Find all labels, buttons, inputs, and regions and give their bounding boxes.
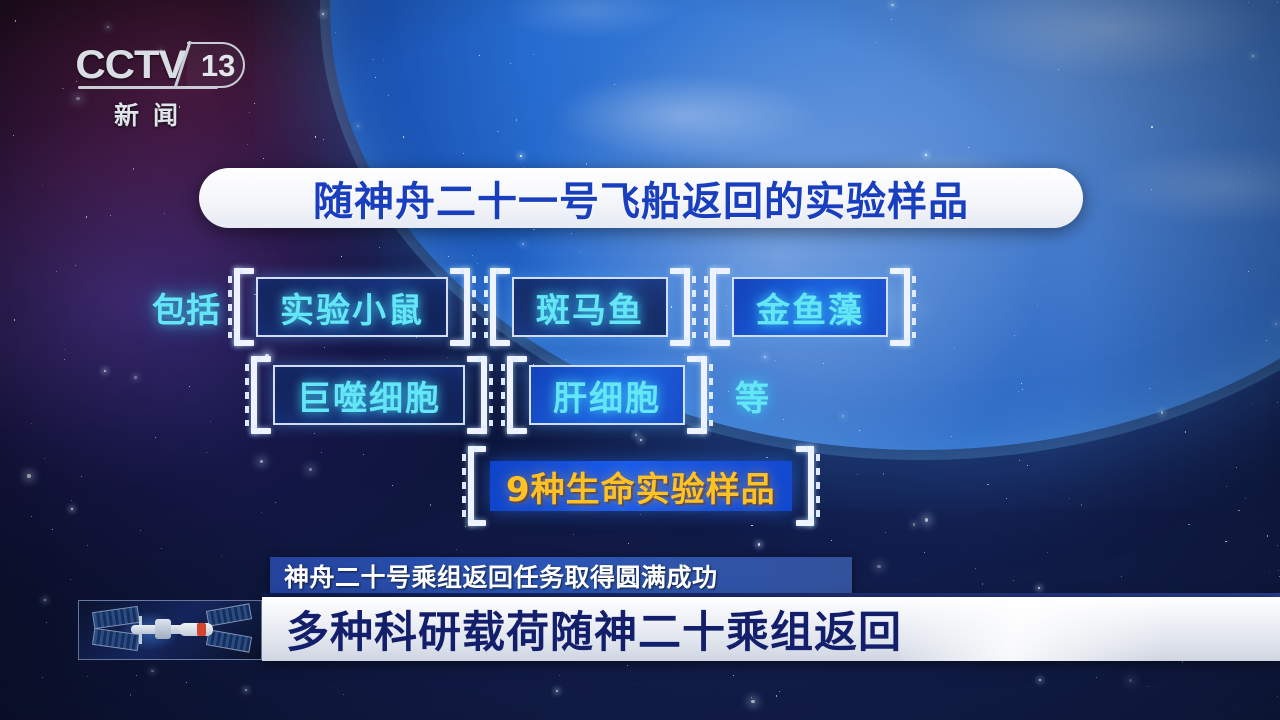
sample-label: 实验小鼠 <box>258 283 446 332</box>
bracket-right-icon <box>467 356 493 434</box>
bracket-right-icon <box>687 356 713 434</box>
sample-chip: 肝细胞 <box>501 356 713 434</box>
sample-box: 斑马鱼 <box>512 277 668 337</box>
bracket-right-icon <box>670 268 696 346</box>
bracket-left-icon <box>462 446 488 526</box>
samples-row-2: 巨噬细胞 肝细胞 等 <box>245 356 769 434</box>
sample-label: 肝细胞 <box>531 371 683 420</box>
summary-highlight: 9种生命实验样品 <box>462 446 820 526</box>
sample-label: 巨噬细胞 <box>275 371 463 420</box>
bracket-right-icon <box>450 268 476 346</box>
sample-box: 实验小鼠 <box>256 277 448 337</box>
lower-third-subtitle-text: 神舟二十号乘组返回任务取得圆满成功 <box>270 558 718 594</box>
channel-number-badge: 13 <box>187 42 245 88</box>
summary-box: 9种生命实验样品 <box>490 461 792 511</box>
lower-third-subtitle: 神舟二十号乘组返回任务取得圆满成功 <box>270 557 852 595</box>
bracket-left-icon <box>501 356 527 434</box>
samples-suffix-label: 等 <box>735 371 769 420</box>
cctv-wordmark: CCTV <box>75 43 185 88</box>
bracket-left-icon <box>245 356 271 434</box>
channel-number: 13 <box>201 48 235 84</box>
sample-box: 肝细胞 <box>529 365 685 425</box>
solar-panel-icon <box>206 603 252 626</box>
sample-chip: 巨噬细胞 <box>245 356 493 434</box>
channel-name: 新闻 <box>78 96 228 132</box>
lower-third-headline: 多种科研载荷随神二十乘组返回 <box>262 597 1280 661</box>
samples-row-1: 包括 实验小鼠 斑马鱼 金鱼藻 <box>152 268 924 346</box>
sample-box: 巨噬细胞 <box>273 365 465 425</box>
station-secondary-module <box>179 623 213 636</box>
sample-label: 斑马鱼 <box>514 283 666 332</box>
bracket-right-icon <box>794 446 820 526</box>
bracket-right-icon <box>890 268 916 346</box>
bracket-left-icon <box>228 268 254 346</box>
channel-logo: CCTV 13 新闻 <box>78 42 245 132</box>
broadcast-screen: CCTV 13 新闻 随神舟二十一号飞船返回的实验样品 包括 实验小鼠 斑马鱼 <box>0 0 1280 720</box>
bracket-left-icon <box>484 268 510 346</box>
space-station-thumbnail <box>78 600 262 660</box>
sample-box: 金鱼藻 <box>732 277 888 337</box>
station-node-module <box>155 619 171 639</box>
headline-banner-text: 随神舟二十一号飞船返回的实验样品 <box>313 169 969 227</box>
sample-label: 金鱼藻 <box>734 283 886 332</box>
sample-chip: 斑马鱼 <box>484 268 696 346</box>
solar-panel-icon <box>206 629 252 652</box>
station-marking <box>197 623 206 636</box>
sample-chip: 实验小鼠 <box>228 268 476 346</box>
bracket-left-icon <box>704 268 730 346</box>
channel-logo-row: CCTV 13 <box>78 42 245 88</box>
headline-banner: 随神舟二十一号飞船返回的实验样品 <box>199 168 1083 228</box>
lower-third-headline-text: 多种科研载荷随神二十乘组返回 <box>262 598 902 660</box>
samples-prefix-label: 包括 <box>152 283 220 332</box>
summary-text: 9种生命实验样品 <box>490 462 792 511</box>
sample-chip: 金鱼藻 <box>704 268 916 346</box>
